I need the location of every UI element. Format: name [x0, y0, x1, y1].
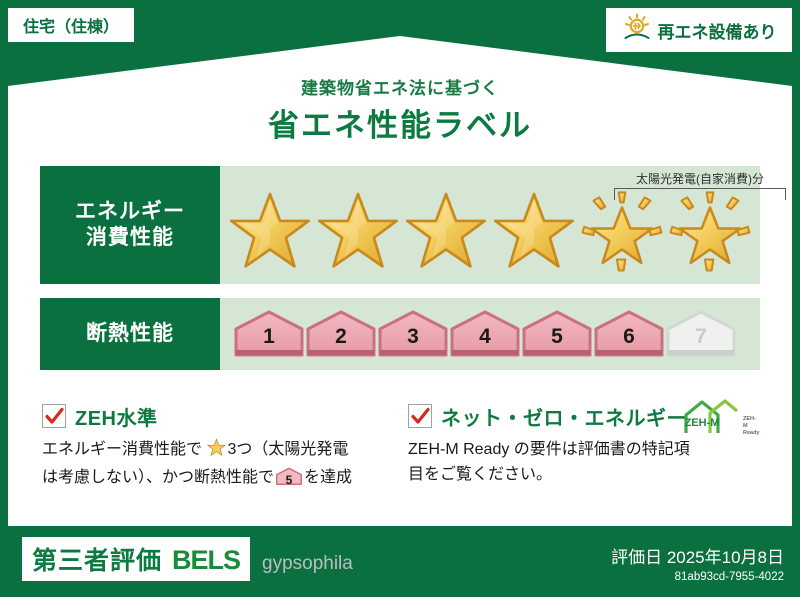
zeh-m-house-icon: ZEH-M	[680, 398, 740, 441]
zeh-m-ready-logo: ZEH-M ZEH-M Ready	[680, 398, 760, 441]
criterion-text-part1: エネルギー消費性能で	[42, 441, 202, 458]
zeh-m-ready-sublabel: ZEH-M Ready	[743, 416, 760, 441]
criterion-header: ZEH水準	[42, 402, 394, 430]
star-filled-2	[316, 189, 400, 273]
criterion-header: ネット・ゼロ・エネルギー ZEH-M ZEH-M Ready	[408, 402, 760, 430]
energy-label-line2: 消費性能	[86, 225, 174, 251]
criterion-text-line2: 目をご覧ください。	[408, 466, 552, 483]
bels-wordmark: BELS	[172, 545, 240, 576]
grade-number: 7	[666, 325, 736, 349]
renewable-equipment-chip: 再エネ設備あり	[606, 8, 792, 52]
insulation-grade-2: 2	[306, 309, 376, 359]
criterion-title: ネット・ゼロ・エネルギー	[441, 402, 687, 431]
solar-sun-icon	[622, 13, 652, 48]
grade-number: 3	[378, 325, 448, 349]
grade-number: 1	[234, 325, 304, 349]
star-solar-6	[668, 189, 752, 273]
zeh-m-logo-text: ZEH-M	[685, 417, 720, 429]
criterion-title: ZEH水準	[75, 402, 158, 431]
grade-number: 5	[522, 325, 592, 349]
criterion-description: ZEH-M Ready の要件は評価書の特記項 目をご覧ください。	[408, 438, 760, 488]
criterion-net-zero-energy: ネット・ゼロ・エネルギー ZEH-M ZEH-M Ready ZEH-M Rea…	[408, 402, 760, 488]
evaluation-date: 評価日 2025年10月8日	[611, 543, 784, 568]
criterion-description: エネルギー消費性能で 3つ（太陽光発電 は考慮しない）、かつ断熱性能で 5 を達…	[42, 438, 394, 491]
zeh-m-sub-line1: ZEH-M	[743, 416, 756, 429]
insulation-grade-scale: 1 2 3	[220, 309, 736, 359]
criterion-zeh-standard: ZEH水準 エネルギー消費性能で 3つ（太陽光発電 は考慮しない）、かつ断熱性能…	[42, 402, 394, 491]
building-type-text: 住宅（住棟）	[23, 13, 119, 37]
insulation-performance-row: 断熱性能 1	[40, 298, 760, 370]
criterion-star-count: 3つ（太陽光発電	[227, 441, 348, 458]
building-type-chip: 住宅（住棟）	[8, 8, 134, 42]
insulation-grade-4: 4	[450, 309, 520, 359]
zeh-checkbox[interactable]	[42, 404, 66, 428]
star-filled-1	[228, 189, 312, 273]
evaluation-meta: 評価日 2025年10月8日 81ab93cd-7955-4022	[611, 543, 784, 583]
solar-generation-note: 太陽光発電(自家消費)分	[612, 170, 788, 187]
energy-rating-area: 太陽光発電(自家消費)分	[220, 166, 760, 284]
criterion-text-part3: を達成	[304, 469, 352, 486]
bels-certification-mark: 第三者評価 BELS	[22, 537, 250, 581]
third-party-label: 第三者評価	[32, 541, 162, 577]
star-filled-4	[492, 189, 576, 273]
grade-number: 4	[450, 325, 520, 349]
insulation-grade-5: 5	[522, 309, 592, 359]
inline-star-icon	[203, 444, 226, 461]
criterion-text-part2: は考慮しない）、かつ断熱性能で	[42, 469, 274, 486]
grade-number: 2	[306, 325, 376, 349]
renewable-chip-text: 再エネ設備あり	[658, 18, 777, 43]
star-solar-5	[580, 189, 664, 273]
check-icon	[411, 407, 430, 426]
insulation-grade-area: 1 2 3	[220, 298, 760, 370]
insulation-performance-label: 断熱性能	[40, 298, 220, 370]
energy-performance-label: エネルギー 消費性能	[40, 166, 220, 284]
inline-grade-badge: 5	[276, 467, 302, 486]
net-zero-checkbox[interactable]	[408, 404, 432, 428]
label-title: 省エネ性能ラベル	[0, 100, 800, 145]
grade-number: 6	[594, 325, 664, 349]
label-subtitle: 建築物省エネ法に基づく	[0, 74, 800, 99]
insulation-grade-7: 7	[666, 309, 736, 359]
evaluation-id: 81ab93cd-7955-4022	[611, 571, 784, 583]
insulation-grade-3: 3	[378, 309, 448, 359]
star-filled-3	[404, 189, 488, 273]
inline-grade-number: 5	[276, 471, 302, 490]
check-icon	[45, 407, 64, 426]
insulation-label-text: 断熱性能	[86, 321, 174, 347]
zeh-m-sub-line2: Ready	[743, 430, 760, 436]
energy-label-line1: エネルギー	[75, 199, 185, 225]
owner-name: gypsophila	[262, 553, 353, 575]
insulation-grade-6: 6	[594, 309, 664, 359]
insulation-grade-1: 1	[234, 309, 304, 359]
energy-performance-row: エネルギー 消費性能 太陽光発電(自家消費)分	[40, 166, 760, 284]
star-rating	[220, 189, 752, 273]
bels-energy-label: 住宅（住棟） 再エネ設備あり 建築物省エネ法に基づく 省エネ性能ラベル	[0, 0, 800, 597]
criterion-text-line1: ZEH-M Ready の要件は評価書の特記項	[408, 441, 690, 458]
